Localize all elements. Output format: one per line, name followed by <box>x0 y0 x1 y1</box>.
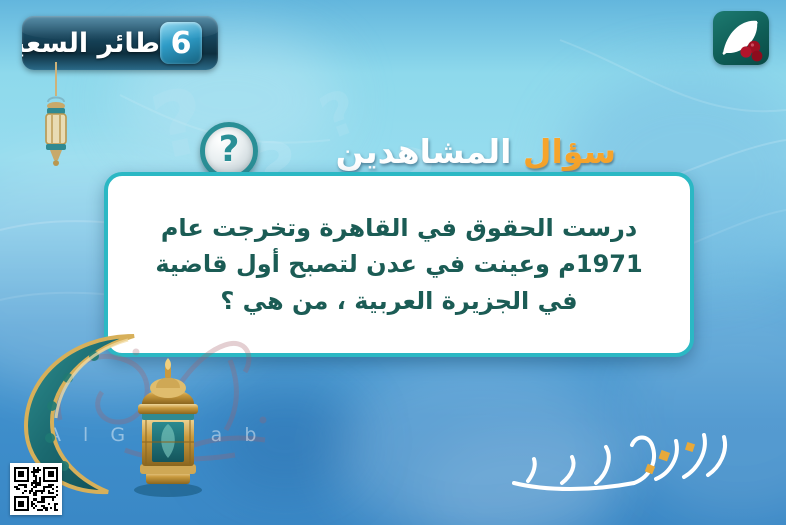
qr-code-grid <box>14 467 58 511</box>
channel-logo-wordmark: طائر السعيدة <box>22 28 160 59</box>
broadcast-overlay-screen: ? ? ? ? طائر السعيدة 6 <box>0 0 786 525</box>
question-line-1: درست الحقوق في القاهرة وتخرجت عام <box>134 210 664 246</box>
header-title-highlight: سؤال <box>523 132 616 171</box>
qr-code[interactable] <box>10 463 62 515</box>
background-blob <box>330 360 630 525</box>
season-number-badge: 6 <box>160 22 202 64</box>
ramadan-kareem-calligraphy: رمضان كريم <box>500 421 740 499</box>
header-title-rest: المشاهدين <box>336 132 512 171</box>
question-line-2: 1971م وعينت في عدن لتصبح أول قاضية <box>134 246 664 282</box>
question-line-3: في الجزيرة العربية ، من هي ؟ <box>134 283 664 319</box>
brand-badge <box>713 11 769 65</box>
background-blob <box>420 430 620 525</box>
hanging-lantern-icon <box>34 62 78 172</box>
question-mark-glyph: ? <box>219 132 240 168</box>
question-text: درست الحقوق في القاهرة وتخرجت عام 1971م … <box>134 210 664 319</box>
question-header-title: سؤال المشاهدين <box>272 132 620 171</box>
leaf-berries-icon <box>713 11 769 65</box>
